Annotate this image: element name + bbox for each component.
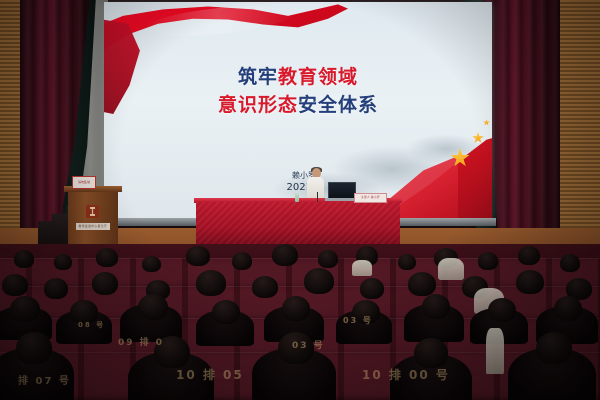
audience-head [488, 298, 516, 322]
audience-head [518, 246, 540, 265]
audience-head [44, 278, 68, 299]
seat-number-label: 03 号 [343, 315, 373, 326]
slide-title-line2-red: 意识形态 [218, 94, 298, 116]
seat-number-label: 08 号 [78, 320, 105, 330]
audience-head [54, 254, 72, 270]
institution-emblem-icon [86, 205, 99, 218]
laptop-base [325, 198, 357, 201]
audience-head [196, 270, 226, 296]
audience-head [318, 250, 338, 268]
audience-head [138, 294, 168, 320]
slide-title-line-2: 意识形态安全体系 [104, 92, 492, 120]
slide-title-line1-red: 教育领域 [278, 66, 358, 88]
audience-head [360, 278, 384, 299]
audience-head [478, 252, 498, 270]
slide-title-line2-blue: 安全体系 [298, 94, 378, 116]
audience-head [96, 248, 118, 267]
slide-title-line1-blue: 筑牢 [238, 66, 278, 88]
slide-presenter-name: 赖小罗 [269, 170, 339, 182]
audience-head [14, 250, 34, 268]
audience-head [186, 246, 210, 266]
audience-head [10, 296, 40, 322]
slide-title-line-1: 筑牢教育领域 [104, 64, 492, 92]
audience-head [16, 332, 52, 364]
audience-head [398, 254, 416, 270]
audience-head [282, 296, 310, 321]
seat-row [0, 258, 600, 289]
slide-title: 筑牢教育领域 意识形态安全体系 [104, 64, 492, 119]
seat-number-label: 10 排 05 [176, 366, 244, 383]
audience-head [560, 254, 580, 272]
audience-head [408, 272, 436, 296]
audience-head [272, 244, 298, 266]
led-presentation-screen: 筑牢教育领域 意识形态安全体系 赖小罗 2021.1 [104, 2, 492, 220]
audience-head [536, 332, 572, 364]
audience-member-light-shirt [352, 260, 372, 276]
podium-sign: 请勿乱动 [72, 176, 96, 189]
microphone-stand [317, 192, 318, 202]
audience-head [212, 300, 240, 324]
seat-number-label: 03 号 [292, 338, 325, 351]
ribbon-highlight [143, 2, 295, 42]
head-table-skirt [196, 202, 400, 244]
gold-star-icon [483, 119, 490, 126]
audience-head [2, 274, 28, 296]
seat-number-label: 09 排 0 [118, 335, 164, 348]
audience-head [304, 268, 334, 294]
audience-head [414, 338, 448, 368]
audience-head [252, 276, 278, 298]
table-name-card: 主讲人 赖小罗 [354, 193, 387, 203]
audience-head [554, 296, 582, 321]
audience-member-light-shirt [486, 328, 504, 374]
audience-area: 08 号09 排 003 号03 号排 07 号10 排 0510 排 00 号 [0, 244, 600, 400]
auditorium-photo: 筑牢教育领域 意识形态安全体系 赖小罗 2021.1 请勿乱动 教师发展中心报告… [0, 0, 600, 400]
audience-head [92, 272, 118, 295]
audience-member-light-shirt [438, 258, 464, 280]
seat-number-label: 10 排 00 号 [362, 366, 450, 383]
audience-head [422, 294, 450, 319]
audience-head [142, 256, 161, 272]
audience-head [516, 270, 544, 294]
audience-head [232, 252, 252, 270]
water-bottle [295, 192, 299, 202]
seat-number-label: 排 07 号 [18, 372, 71, 387]
podium-name-plate: 教师发展中心报告厅 [76, 223, 110, 230]
